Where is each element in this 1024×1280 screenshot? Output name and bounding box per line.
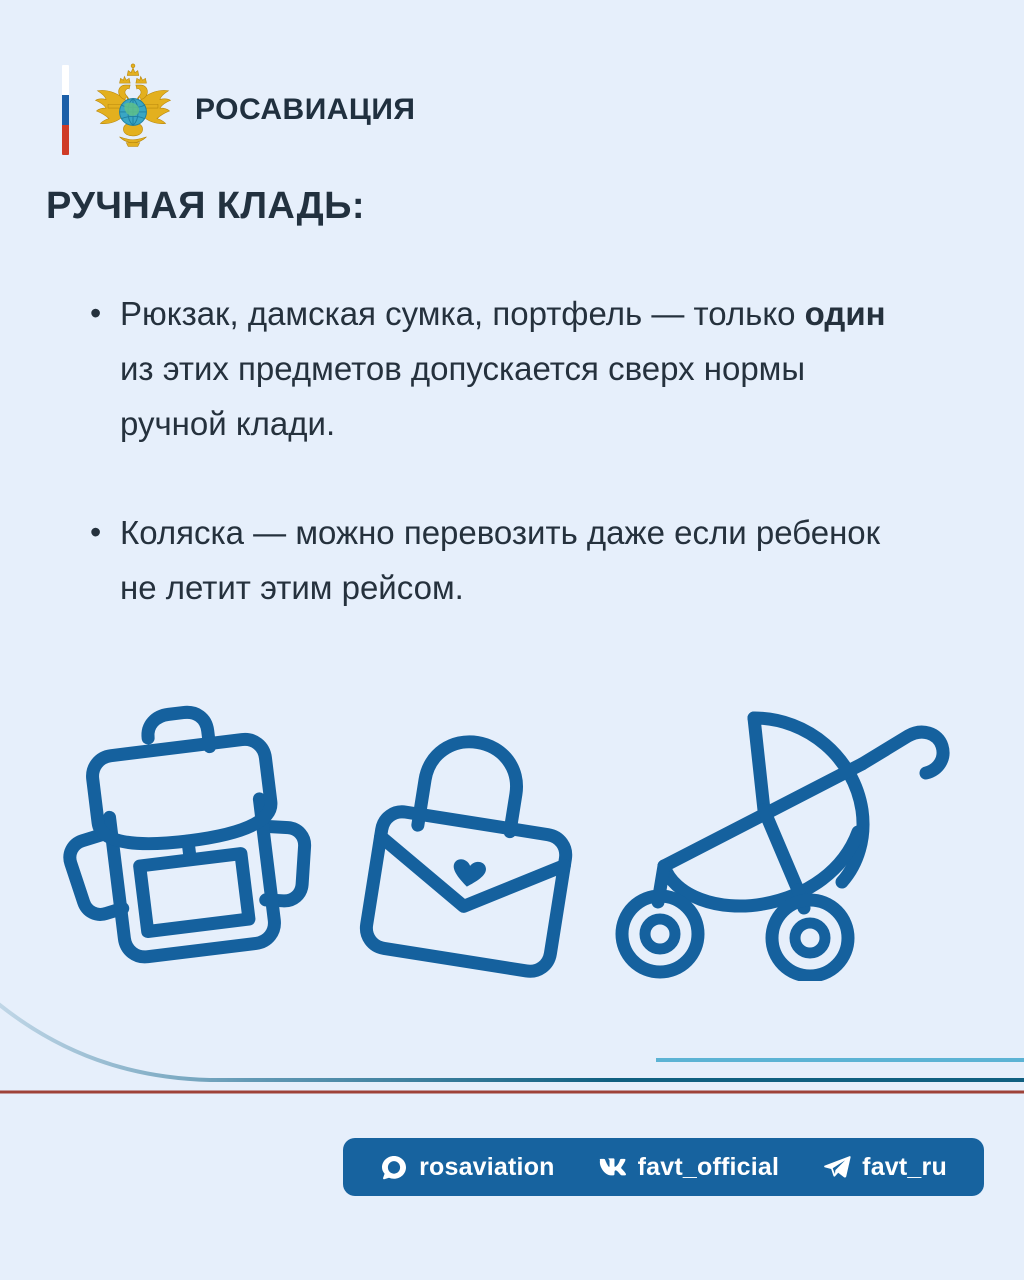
decorative-curve: [0, 1002, 1024, 1080]
infographic-page: РОСАВИАЦИЯ РУЧНАЯ КЛАДЬ: • Рюкзак, дамск…: [0, 0, 1024, 1280]
bullet-text: Коляска — можно перевозить даже если реб…: [120, 505, 916, 615]
bullet-text-emphasis: один: [805, 295, 886, 332]
tricolor-band-white: [62, 65, 69, 95]
backpack-illustration: [52, 688, 322, 978]
social-link-rosaviation[interactable]: rosaviation: [380, 1153, 555, 1182]
brand-name: РОСАВИАЦИЯ: [195, 93, 415, 127]
brand-header: РОСАВИАЦИЯ: [62, 58, 415, 162]
bullet-text: Рюкзак, дамская сумка, портфель — только…: [120, 286, 916, 451]
russian-tricolor-bar-icon: [62, 65, 69, 155]
social-handle: favt_official: [638, 1153, 780, 1182]
decorative-lines: [0, 980, 1024, 1110]
social-handle: rosaviation: [419, 1153, 555, 1182]
illustration-row: [0, 678, 1024, 998]
bullet-marker-icon: •: [86, 286, 120, 341]
list-item: • Рюкзак, дамская сумка, портфель — толь…: [86, 286, 916, 451]
tricolor-band-blue: [62, 95, 69, 125]
stroller-wheel-right-inner: [795, 923, 825, 953]
russian-eagle-emblem-icon: [85, 62, 181, 158]
stroller-illustration: [608, 706, 958, 981]
tricolor-band-red: [62, 125, 69, 155]
bullet-list: • Рюкзак, дамская сумка, портфель — толь…: [86, 286, 916, 615]
social-handle: favt_ru: [862, 1153, 947, 1182]
handbag-illustration: [352, 726, 592, 981]
bullet-text-before: Рюкзак, дамская сумка, портфель — только: [120, 295, 805, 332]
social-link-telegram[interactable]: favt_ru: [823, 1153, 947, 1182]
page-title: РУЧНАЯ КЛАДЬ:: [46, 185, 365, 228]
stroller-wheel-left-inner: [645, 919, 675, 949]
bullet-marker-icon: •: [86, 505, 120, 560]
list-item: • Коляска — можно перевозить даже если р…: [86, 505, 916, 615]
stroller-wheel-right-outer: [772, 900, 848, 976]
social-link-vk[interactable]: favt_official: [599, 1153, 780, 1182]
social-footer-bar: rosaviation favt_official favt_ru: [343, 1138, 984, 1196]
bullet-text-before: Коляска — можно перевозить даже если реб…: [120, 514, 880, 606]
telegram-icon: [823, 1153, 851, 1181]
max-messenger-icon: [380, 1153, 408, 1181]
heart-clasp-icon: [451, 858, 487, 889]
vk-icon: [599, 1153, 627, 1181]
bullet-text-after: из этих предметов допускается сверх норм…: [120, 350, 805, 442]
